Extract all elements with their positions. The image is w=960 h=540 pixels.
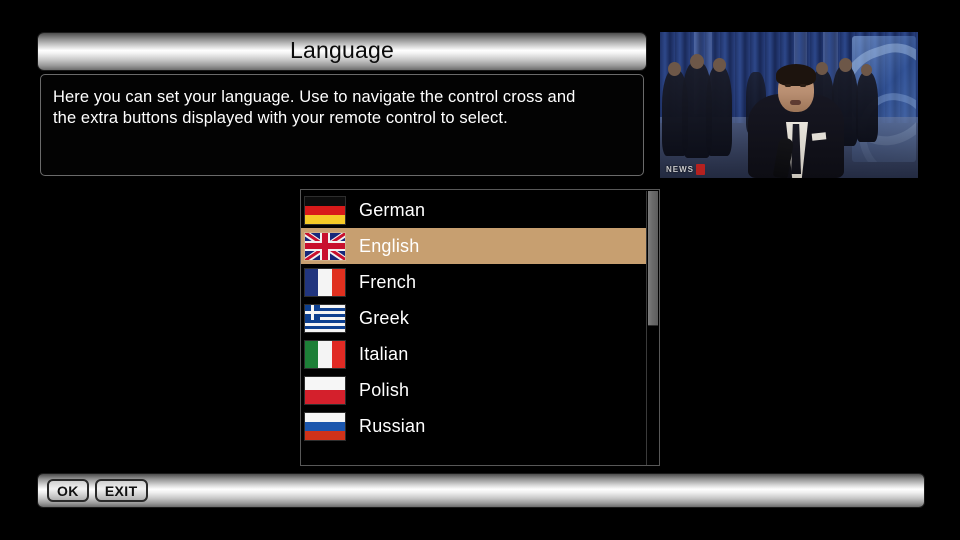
list-item-label: Russian (359, 416, 425, 437)
description-panel: Here you can set your language. Use to n… (40, 74, 644, 176)
list-item-german[interactable]: German (301, 192, 646, 228)
flag-united-kingdom-icon (305, 233, 345, 260)
list-scrollbar[interactable] (646, 191, 658, 466)
flag-poland-icon (305, 377, 345, 404)
video-reporter-pocket-square (812, 132, 827, 140)
list-item-polish[interactable]: Polish (301, 372, 646, 408)
ok-button-label: OK (57, 484, 79, 498)
channel-logo-text: NEWS (666, 165, 694, 174)
flag-italy-icon (305, 341, 345, 368)
video-crowd-head (816, 62, 828, 75)
list-item-english[interactable]: English (301, 228, 646, 264)
video-reporter-mouth (790, 100, 801, 105)
list-item-italian[interactable]: Italian (301, 336, 646, 372)
language-list: German English French (301, 192, 646, 444)
flag-france-icon (305, 269, 345, 296)
video-reporter-hair (776, 64, 816, 86)
video-crowd-figure (856, 72, 878, 142)
video-crowd-head (690, 54, 704, 69)
list-item-label: French (359, 272, 416, 293)
list-scrollbar-thumb[interactable] (648, 191, 658, 326)
video-preview[interactable]: NEWS (660, 32, 918, 178)
list-item-french[interactable]: French (301, 264, 646, 300)
description-text: Here you can set your language. Use to n… (53, 87, 629, 129)
list-item-label: German (359, 200, 425, 221)
video-crowd-head (839, 58, 852, 72)
list-item-label: Italian (359, 344, 408, 365)
language-list-panel: German English French (300, 189, 660, 466)
flag-germany-icon (305, 197, 345, 224)
page-title: Language (290, 39, 394, 64)
channel-logo-mark (696, 164, 705, 175)
list-item-label: English (359, 236, 419, 257)
list-item-russian[interactable]: Russian (301, 408, 646, 444)
title-bar: Language (38, 33, 646, 70)
osd-screen: Language Here you can set your language.… (0, 0, 960, 540)
list-item-greek[interactable]: Greek (301, 300, 646, 336)
exit-button[interactable]: EXIT (95, 479, 148, 502)
channel-logo: NEWS (666, 164, 705, 175)
list-item-label: Polish (359, 380, 409, 401)
flag-russia-icon (305, 413, 345, 440)
softkey-bar: OK EXIT (38, 474, 924, 507)
video-crowd-figure (706, 66, 732, 156)
list-item-label: Greek (359, 308, 409, 329)
video-crowd-head (713, 58, 726, 72)
exit-button-label: EXIT (105, 484, 138, 498)
video-reporter-eye (800, 84, 806, 87)
video-reporter-eye (785, 84, 791, 87)
flag-greece-icon (305, 305, 345, 332)
ok-button[interactable]: OK (47, 479, 89, 502)
video-crowd-head (668, 62, 681, 76)
video-crowd-head (861, 64, 872, 76)
